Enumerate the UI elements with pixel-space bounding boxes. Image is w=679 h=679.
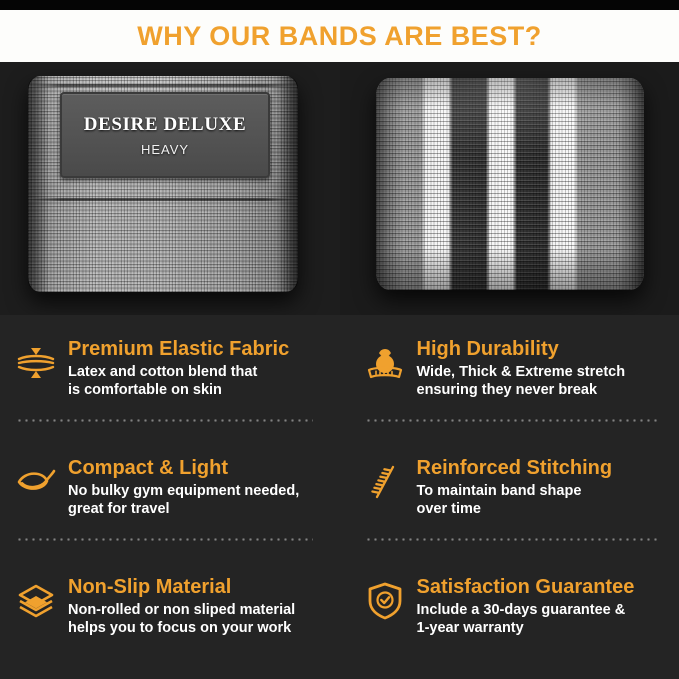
feature-item-compact-and-light: Compact & Light No bulky gym equipment n… bbox=[14, 434, 315, 553]
feature-desc-line: No bulky gym equipment needed, bbox=[68, 482, 315, 500]
feature-desc-line: great for travel bbox=[68, 500, 315, 518]
feature-text: Satisfaction Guarantee Include a 30-days… bbox=[417, 577, 664, 637]
feature-title: Premium Elastic Fabric bbox=[68, 339, 315, 361]
brand-name: DESIRE DELUXE bbox=[84, 114, 246, 136]
feature-item-satisfaction-guarantee: Satisfaction Guarantee Include a 30-days… bbox=[363, 553, 664, 679]
feature-description: Non-rolled or non sliped material helps … bbox=[68, 601, 315, 638]
product-infographic: WHY OUR BANDS ARE BEST? DESIRE DELUXE HE… bbox=[0, 0, 679, 679]
striped-band-image bbox=[376, 78, 644, 290]
feature-desc-line: Latex and cotton blend that bbox=[68, 363, 315, 381]
feature-item-non-slip-material: Non-Slip Material Non-rolled or non slip… bbox=[14, 553, 315, 679]
feature-text: Non-Slip Material Non-rolled or non slip… bbox=[68, 577, 315, 637]
top-black-strip bbox=[0, 0, 679, 10]
page-title: WHY OUR BANDS ARE BEST? bbox=[137, 21, 542, 52]
feature-item-high-durability: High Durability Wide, Thick & Extreme st… bbox=[363, 315, 664, 434]
feature-desc-line: ensuring they never break bbox=[417, 381, 664, 399]
feature-desc-line: Include a 30-days guarantee & bbox=[417, 601, 664, 619]
product-photo-row: DESIRE DELUXE HEAVY bbox=[0, 62, 679, 315]
feature-text: High Durability Wide, Thick & Extreme st… bbox=[417, 339, 664, 399]
feature-description: No bulky gym equipment needed, great for… bbox=[68, 482, 315, 519]
feature-text: Premium Elastic Fabric Latex and cotton … bbox=[68, 339, 315, 399]
feather-light-icon bbox=[14, 460, 58, 504]
feature-desc-line: Wide, Thick & Extreme stretch bbox=[417, 363, 664, 381]
plain-band-image: DESIRE DELUXE HEAVY bbox=[28, 76, 298, 292]
band-right-edge-shadow bbox=[276, 76, 298, 292]
feature-desc-line: is comfortable on skin bbox=[68, 381, 315, 399]
feature-desc-line: helps you to focus on your work bbox=[68, 619, 315, 637]
feature-description: Wide, Thick & Extreme stretch ensuring t… bbox=[417, 363, 664, 400]
feature-title: Satisfaction Guarantee bbox=[417, 577, 664, 599]
stitching-seam-icon bbox=[363, 460, 407, 504]
product-photo-left: DESIRE DELUXE HEAVY bbox=[0, 62, 340, 315]
layers-stack-icon bbox=[14, 579, 58, 623]
band-seam-mid bbox=[30, 198, 296, 201]
feature-title: High Durability bbox=[417, 339, 664, 361]
brand-label-plate: DESIRE DELUXE HEAVY bbox=[60, 92, 270, 178]
feature-text: Reinforced Stitching To maintain band sh… bbox=[417, 458, 664, 518]
feature-description: Latex and cotton blend that is comfortab… bbox=[68, 363, 315, 400]
feature-desc-line: over time bbox=[417, 500, 664, 518]
product-photo-right bbox=[340, 62, 679, 315]
elastic-stretch-icon bbox=[14, 341, 58, 385]
feature-desc-line: To maintain band shape bbox=[417, 482, 664, 500]
feature-title: Compact & Light bbox=[68, 458, 315, 480]
feature-title: Non-Slip Material bbox=[68, 577, 315, 599]
kettlebell-icon bbox=[363, 341, 407, 385]
header-banner: WHY OUR BANDS ARE BEST? bbox=[0, 10, 679, 62]
feature-description: To maintain band shape over time bbox=[417, 482, 664, 519]
feature-desc-line: 1-year warranty bbox=[417, 619, 664, 637]
feature-title: Reinforced Stitching bbox=[417, 458, 664, 480]
feature-item-reinforced-stitching: Reinforced Stitching To maintain band sh… bbox=[363, 434, 664, 553]
feature-desc-line: Non-rolled or non sliped material bbox=[68, 601, 315, 619]
band-left-edge-shadow bbox=[28, 76, 50, 292]
feature-grid: Premium Elastic Fabric Latex and cotton … bbox=[0, 315, 679, 679]
feature-text: Compact & Light No bulky gym equipment n… bbox=[68, 458, 315, 518]
stripe-shading bbox=[376, 78, 644, 290]
feature-item-premium-elastic-fabric: Premium Elastic Fabric Latex and cotton … bbox=[14, 315, 315, 434]
band-seam-top bbox=[30, 84, 296, 87]
feature-description: Include a 30-days guarantee & 1-year war… bbox=[417, 601, 664, 638]
resistance-level: HEAVY bbox=[141, 142, 189, 157]
shield-check-icon bbox=[363, 579, 407, 623]
